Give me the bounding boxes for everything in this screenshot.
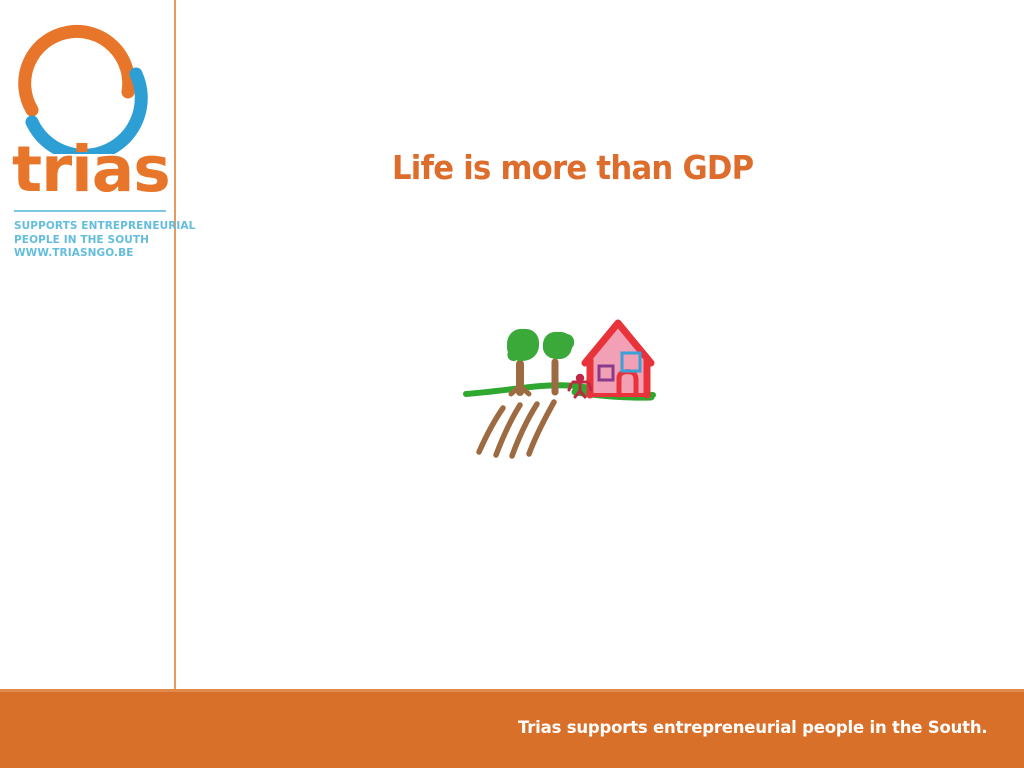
slide-title: Life is more than GDP	[392, 148, 857, 188]
vertical-divider-rule	[174, 0, 176, 692]
trias-logo[interactable]: trias SUPPORTS ENTREPRENEURIAL PEOPLE IN…	[6, 14, 174, 262]
logo-tagline: SUPPORTS ENTREPRENEURIAL PEOPLE IN THE S…	[14, 220, 178, 261]
footer-tagline: Trias supports entrepreneurial people in…	[518, 718, 987, 737]
logo-tagline-line-2: PEOPLE IN THE SOUTH	[14, 234, 178, 248]
trias-wordmark: trias	[12, 139, 172, 201]
farm-house-drawing-image	[463, 312, 663, 467]
logo-underline-rule	[14, 210, 166, 212]
slide-canvas: trias SUPPORTS ENTREPRENEURIAL PEOPLE IN…	[0, 0, 1024, 768]
logo-tagline-line-1: SUPPORTS ENTREPRENEURIAL	[14, 220, 178, 234]
logo-tagline-line-3: WWW.TRIASNGO.BE	[14, 247, 178, 261]
